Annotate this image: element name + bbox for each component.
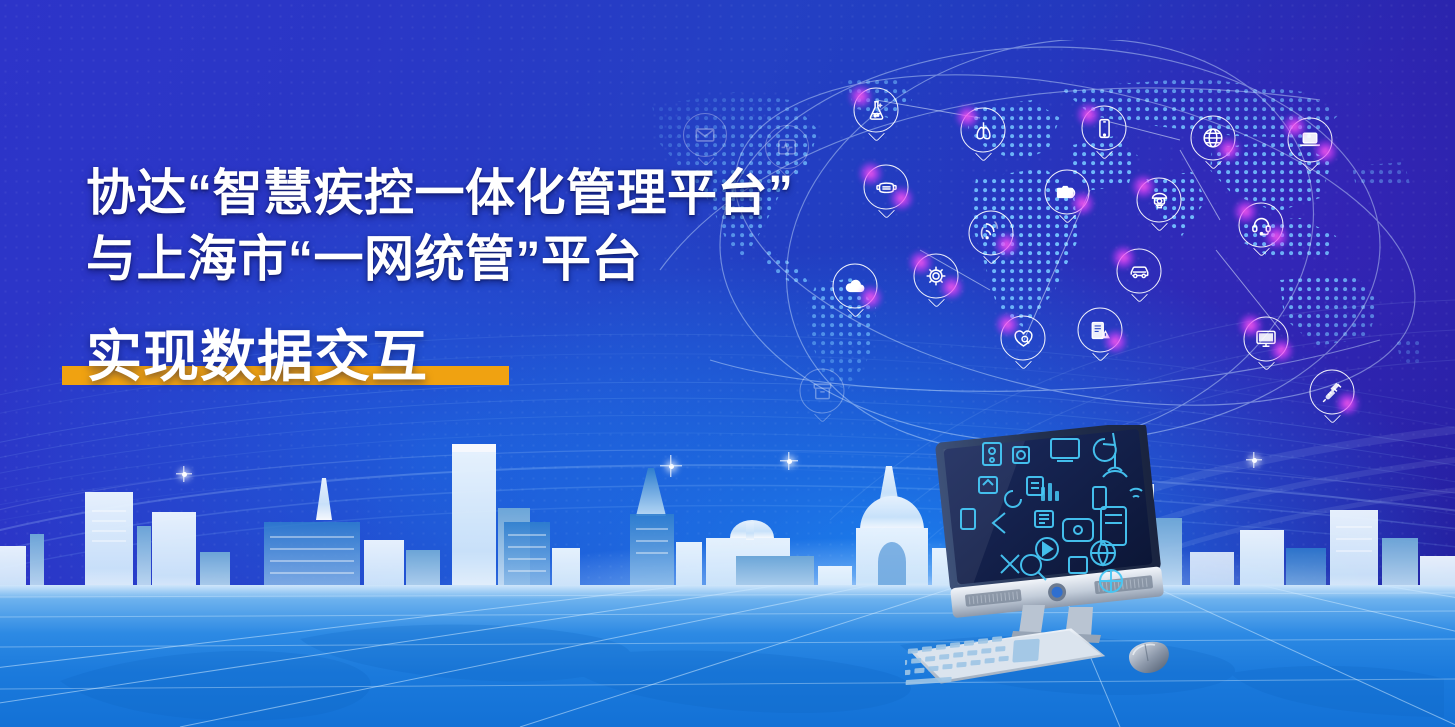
sparkle-star: [1246, 452, 1262, 468]
desktop-computer-illustration: [905, 425, 1205, 695]
network-node-laptop[interactable]: [1288, 118, 1333, 163]
node-glow: [1269, 338, 1295, 364]
ground-perspective-grid: [0, 585, 1455, 727]
network-node-smartphone[interactable]: [1082, 106, 1127, 151]
node-glow: [1131, 174, 1157, 200]
title-line-2: 与上海市“一网统管”平台: [86, 226, 916, 292]
node-glow: [1335, 391, 1361, 417]
network-node-gear[interactable]: [914, 254, 959, 299]
network-node-camera[interactable]: [1045, 170, 1090, 215]
node-glow: [995, 312, 1021, 338]
node-glow: [1070, 191, 1096, 217]
headline-block: 协达“智慧疾控一体化管理平台” 与上海市“一网统管”平台 实现数据交互: [86, 160, 916, 389]
network-node-syringe[interactable]: [1310, 370, 1355, 415]
node-glow: [1264, 224, 1290, 250]
node-glow: [939, 275, 965, 301]
sparkle-star: [176, 466, 192, 482]
node-glow: [1103, 329, 1129, 355]
network-node-lungs[interactable]: [961, 108, 1006, 153]
ground-plane: [0, 585, 1455, 727]
sparkle-star: [660, 455, 682, 477]
node-glow: [848, 84, 874, 110]
node-glow: [1111, 245, 1137, 271]
network-node-mail[interactable]: [683, 113, 727, 157]
node-glow: [1233, 199, 1259, 225]
node-glow: [1238, 313, 1264, 339]
network-node-wifi-signal[interactable]: [969, 211, 1014, 256]
node-glow: [994, 232, 1020, 258]
network-node-globe[interactable]: [1191, 116, 1236, 161]
network-node-report-alert[interactable]: [1078, 308, 1123, 353]
network-node-cctv-camera[interactable]: [1137, 178, 1182, 223]
sparkle-star: [780, 452, 798, 470]
network-node-monitor-screen[interactable]: [1244, 317, 1289, 362]
title-line-1: 协达“智慧疾控一体化管理平台”: [86, 160, 916, 226]
network-node-headset[interactable]: [1239, 203, 1284, 248]
node-glow: [1076, 102, 1102, 128]
node-glow: [955, 104, 981, 130]
banner-root: 协达“智慧疾控一体化管理平台” 与上海市“一网统管”平台 实现数据交互: [0, 0, 1455, 727]
subtitle-text: 实现数据交互: [86, 326, 428, 389]
node-glow: [1282, 114, 1308, 140]
network-node-ambulance-car[interactable]: [1117, 249, 1162, 294]
network-node-heart-search[interactable]: [1001, 316, 1046, 361]
node-glow: [1216, 137, 1242, 163]
subtitle-wrapper: 实现数据交互: [86, 326, 428, 389]
node-glow: [1313, 139, 1339, 165]
network-node-lab-flask[interactable]: [854, 88, 899, 133]
mail-icon: [683, 113, 727, 157]
